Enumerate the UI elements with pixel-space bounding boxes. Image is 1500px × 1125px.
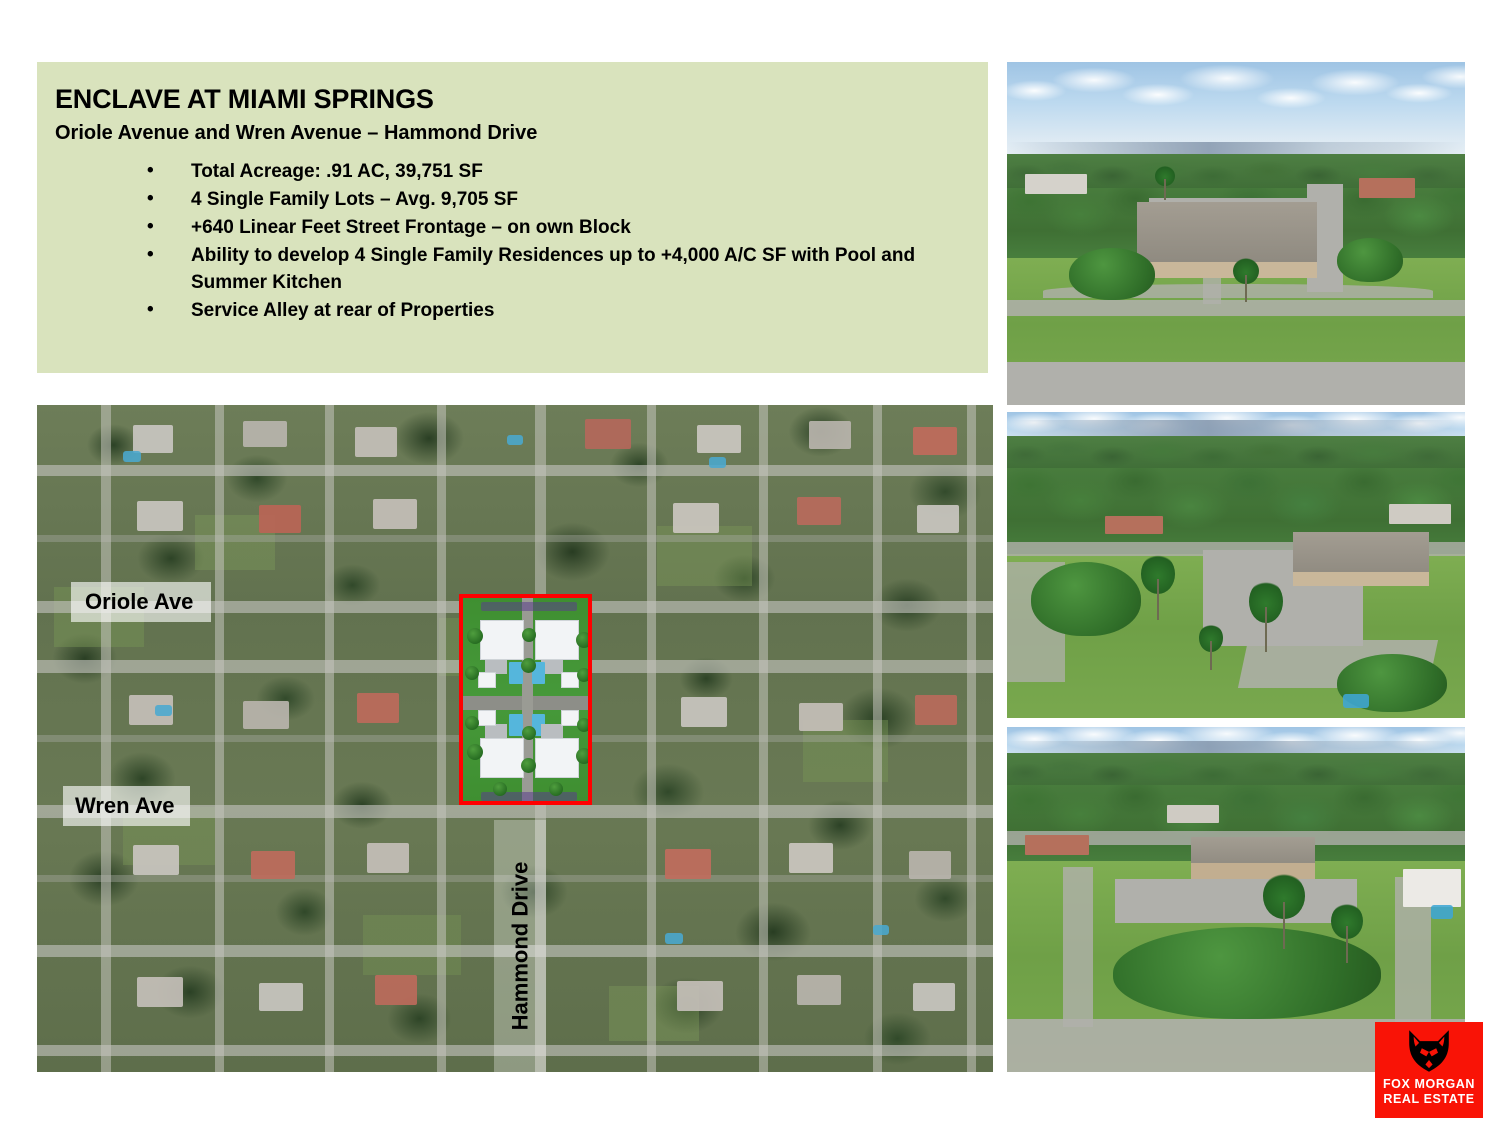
bullet-icon: •	[147, 186, 154, 213]
summer-kitchen-patio	[541, 724, 563, 738]
info-panel: ENCLAVE AT MIAMI SPRINGS Oriole Avenue a…	[37, 62, 988, 373]
neighbor-house	[1025, 835, 1089, 855]
list-item: • Total Acreage: .91 AC, 39,751 SF	[55, 159, 970, 186]
list-item: • Ability to develop 4 Single Family Res…	[55, 243, 970, 297]
residence-footprint	[535, 738, 579, 778]
logo-line-1: FOX MORGAN	[1383, 1077, 1475, 1092]
map-label-wren-ave: Wren Ave	[63, 786, 190, 826]
site-plan-hedge	[481, 602, 577, 611]
bullet-icon: •	[147, 158, 154, 185]
residence-footprint	[478, 710, 496, 726]
list-item: • +640 Linear Feet Street Frontage – on …	[55, 215, 970, 242]
property-highlights-list: • Total Acreage: .91 AC, 39,751 SF • 4 S…	[55, 159, 970, 325]
tree-icon	[521, 658, 536, 673]
page-title: ENCLAVE AT MIAMI SPRINGS	[55, 84, 970, 115]
fox-head-icon	[1402, 1028, 1456, 1074]
parking-lot	[1115, 879, 1357, 923]
map-label-oriole-ave: Oriole Ave	[71, 582, 211, 622]
palm-tree	[1249, 580, 1283, 652]
foreground-street	[1007, 362, 1465, 405]
bullet-icon: •	[147, 242, 154, 269]
bullet-icon: •	[147, 214, 154, 241]
neighbor-house	[1403, 869, 1461, 907]
side-alley	[1063, 867, 1093, 1027]
tree-icon	[521, 758, 536, 773]
pool	[509, 714, 523, 736]
list-item-text: Ability to develop 4 Single Family Resid…	[191, 245, 915, 293]
clouds	[1007, 62, 1465, 144]
building-roof	[1137, 202, 1317, 264]
site-plan-content	[463, 598, 588, 801]
palm-tree	[1233, 258, 1259, 302]
tree-icon	[493, 782, 507, 796]
palm-tree	[1331, 903, 1363, 963]
list-item-text: 4 Single Family Lots – Avg. 9,705 SF	[191, 189, 518, 210]
tree-icon	[577, 718, 591, 732]
residence-footprint	[480, 620, 524, 660]
tree-icon	[467, 744, 483, 760]
residence-footprint	[535, 620, 579, 660]
bullet-icon: •	[147, 297, 154, 324]
page-subtitle: Oriole Avenue and Wren Avenue – Hammond …	[55, 121, 970, 145]
tree-icon	[577, 668, 591, 682]
tree-icon	[549, 782, 563, 796]
tree-icon	[522, 628, 536, 642]
tree-icon	[465, 716, 479, 730]
neighbor-house	[1167, 805, 1219, 823]
site-plan-overlay[interactable]	[459, 594, 592, 805]
building-wall	[1293, 572, 1429, 586]
neighbor-pool	[1431, 905, 1453, 919]
shrub	[1031, 562, 1141, 636]
company-logo[interactable]: FOX MORGAN REAL ESTATE	[1375, 1022, 1483, 1118]
aerial-photo-3[interactable]	[1007, 727, 1465, 1072]
map-label-hammond-drive-text: Hammond Drive	[507, 862, 533, 1031]
aerial-map[interactable]: Oriole Ave Wren Ave Hammond Drive	[37, 405, 993, 1072]
tree-icon	[522, 726, 536, 740]
list-item-text: Service Alley at rear of Properties	[191, 300, 494, 321]
list-item: • 4 Single Family Lots – Avg. 9,705 SF	[55, 187, 970, 214]
logo-line-2: REAL ESTATE	[1383, 1092, 1474, 1107]
list-item-text: +640 Linear Feet Street Frontage – on ow…	[191, 217, 631, 238]
palm-tree	[1199, 624, 1223, 670]
tree-icon	[467, 628, 483, 644]
building-wall	[1137, 262, 1317, 278]
neighbor-house	[1025, 174, 1087, 194]
palm-tree	[1155, 166, 1175, 200]
palm-tree	[1141, 554, 1175, 620]
summer-kitchen-patio	[485, 724, 507, 738]
list-item-text: Total Acreage: .91 AC, 39,751 SF	[191, 161, 483, 182]
neighbor-pool	[1343, 694, 1369, 708]
list-item: • Service Alley at rear of Properties	[55, 298, 970, 325]
map-label-hammond-drive: Hammond Drive	[494, 820, 546, 1072]
residence-footprint	[478, 672, 496, 688]
tree-icon	[576, 748, 592, 764]
building-roof	[1293, 532, 1429, 576]
aerial-photo-2[interactable]	[1007, 412, 1465, 718]
residence-footprint	[480, 738, 524, 778]
tree-icon	[576, 632, 592, 648]
palm-tree	[1263, 873, 1305, 949]
shrub	[1069, 248, 1155, 300]
shrub	[1337, 238, 1403, 282]
neighbor-house	[1359, 178, 1415, 198]
tree-icon	[465, 666, 479, 680]
street	[1007, 300, 1465, 316]
neighbor-house	[1389, 504, 1451, 524]
neighbor-house	[1105, 516, 1163, 534]
aerial-photo-1[interactable]	[1007, 62, 1465, 405]
